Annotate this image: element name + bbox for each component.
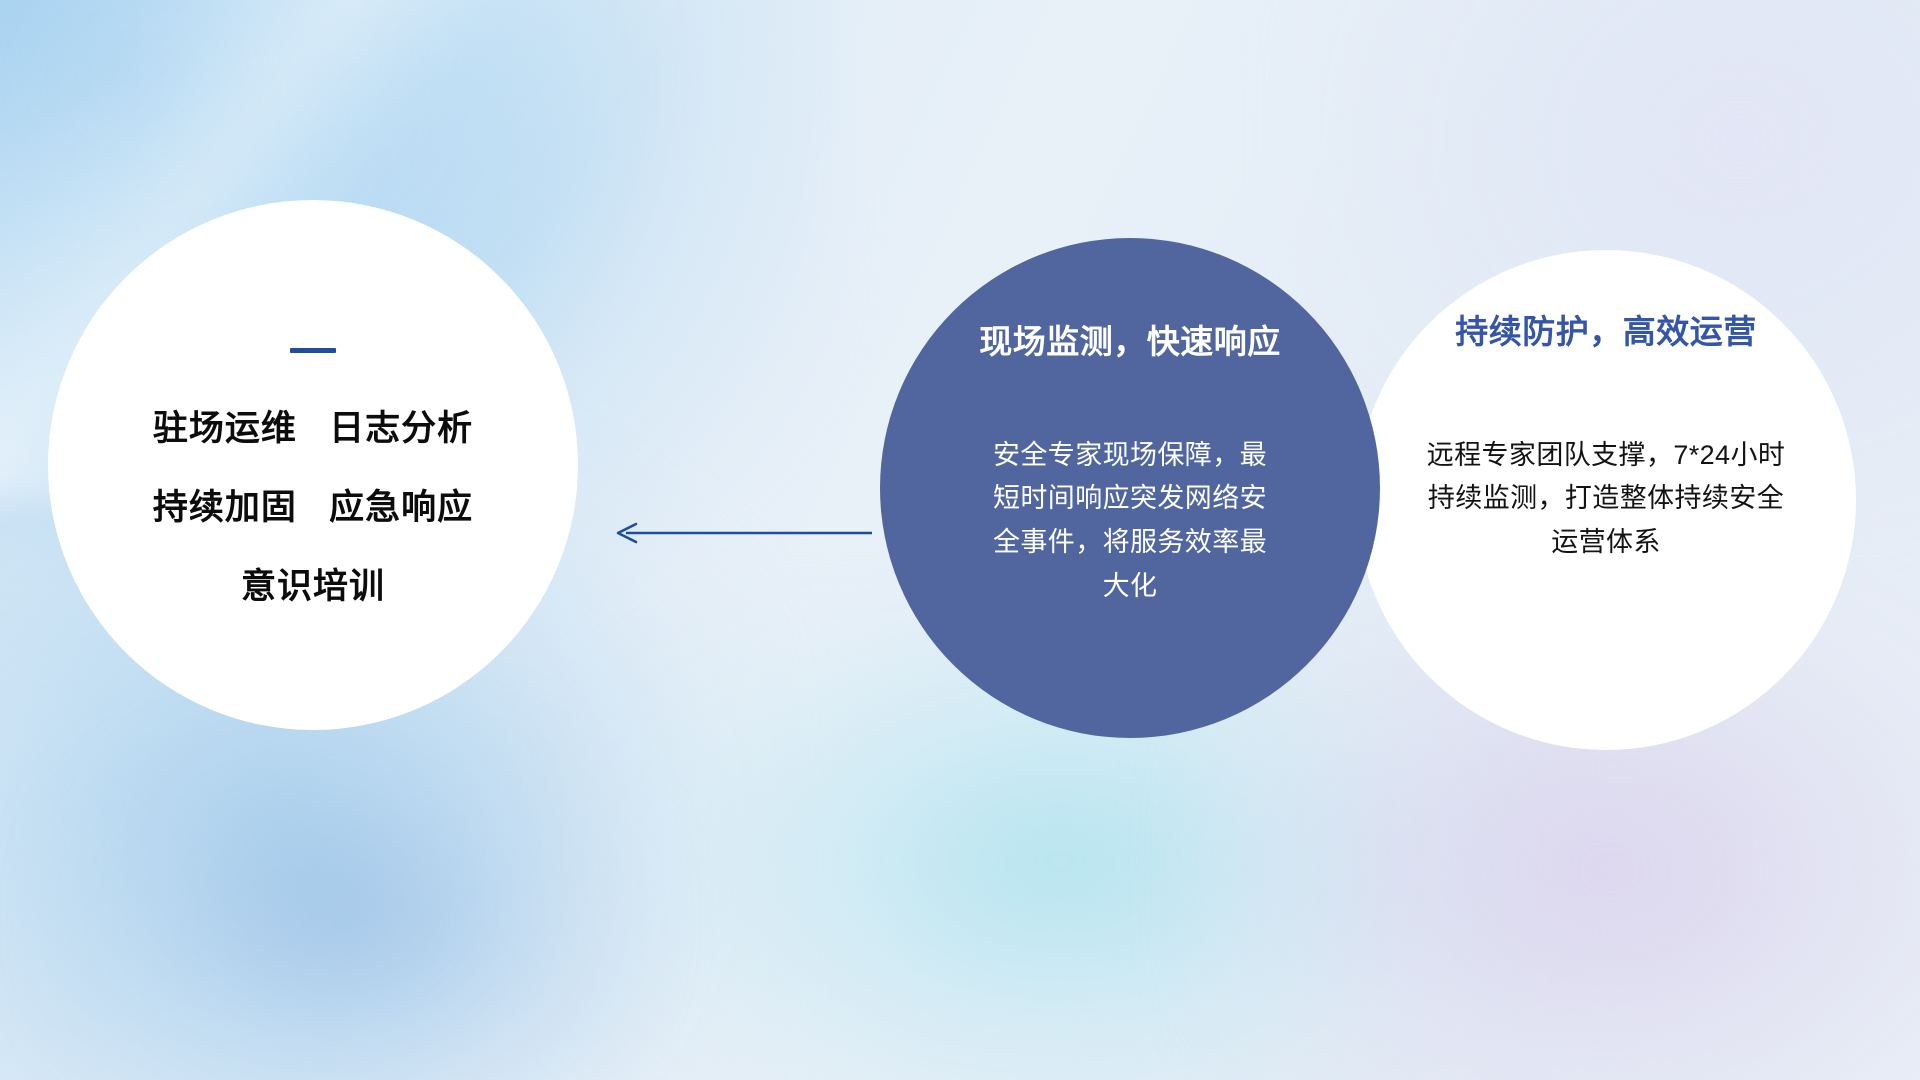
continuous-protection-body: 远程专家团队支撑，7*24小时持续监测，打造整体持续安全运营体系 [1426, 434, 1786, 565]
capability-line-3: 意识培训 [48, 569, 578, 604]
continuous-protection-title: 持续防护，高效运营 [1382, 312, 1830, 352]
onsite-monitoring-title: 现场监测，快速响应 [904, 322, 1356, 362]
continuous-protection-content: 持续防护，高效运营 远程专家团队支撑，7*24小时持续监测，打造整体持续安全运营… [1356, 312, 1856, 565]
leftward-flow-arrow [610, 520, 872, 546]
continuous-protection-circle[interactable]: 持续防护，高效运营 远程专家团队支撑，7*24小时持续监测，打造整体持续安全运营… [1356, 250, 1856, 750]
capability-line-1: 驻场运维 日志分析 [48, 411, 578, 446]
background-glow-bottom-left [40, 700, 660, 1080]
slide-canvas: 驻场运维 日志分析 持续加固 应急响应 意识培训 持续防护，高效运营 远程专家团… [0, 0, 1920, 1080]
onsite-monitoring-body: 安全专家现场保障，最短时间响应突发网络安全事件，将服务效率最大化 [985, 434, 1275, 609]
onsite-monitoring-circle[interactable]: 现场监测，快速响应 安全专家现场保障，最短时间响应突发网络安全事件，将服务效率最… [880, 238, 1380, 738]
capability-line-2: 持续加固 应急响应 [48, 490, 578, 525]
accent-dash-divider [290, 348, 336, 353]
driven-operations-content: 驻场运维 日志分析 持续加固 应急响应 意识培训 [48, 348, 578, 604]
driven-operations-circle[interactable]: 驻场运维 日志分析 持续加固 应急响应 意识培训 [48, 200, 578, 730]
onsite-monitoring-content: 现场监测，快速响应 安全专家现场保障，最短时间响应突发网络安全事件，将服务效率最… [880, 322, 1380, 609]
